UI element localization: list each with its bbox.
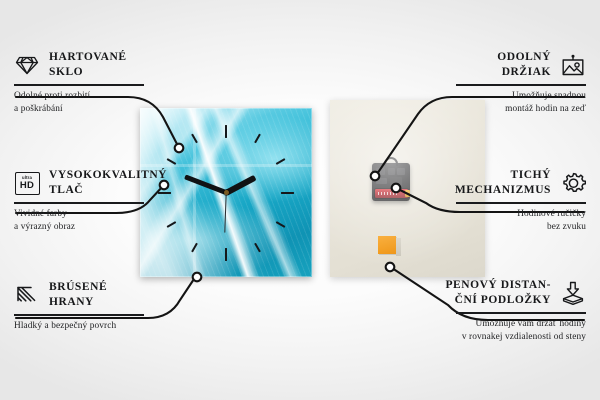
feature-rule — [456, 312, 586, 313]
feature-vysokokvalitny-tlac: ultra HD VYSOKOKVALITNÝTLAČ Vividné farb… — [14, 168, 204, 235]
movement-detail — [376, 178, 387, 184]
feature-subtitle: Umožňuje vám držať hodinyv rovnakej vzdi… — [386, 318, 586, 345]
feature-heading: ODOLNÝDRŽIAK — [396, 50, 586, 80]
feature-title: HARTOVANÉSKLO — [49, 50, 127, 80]
gear-icon — [560, 171, 586, 195]
clock-hour-tick — [225, 125, 227, 138]
feature-brusene-hrany: BRÚSENÉHRANY Hladký a bezpečný povrch — [14, 280, 204, 333]
clock-center-cap — [224, 190, 229, 195]
clock-hour-tick — [225, 248, 227, 261]
foam-spacer-pad — [378, 236, 396, 254]
feature-heading: HARTOVANÉSKLO — [14, 50, 204, 80]
feature-rule — [456, 202, 586, 203]
hanger-hook-icon — [384, 157, 398, 166]
feature-title: TICHÝMECHANIZMUS — [455, 168, 551, 198]
clock-hour-tick — [276, 221, 286, 228]
feature-odolny-drziak: ODOLNÝDRŽIAK Umožňuje snadnoumontáž hodi… — [396, 50, 586, 117]
clock-hour-tick — [167, 158, 177, 165]
feature-subtitle: Umožňuje snadnoumontáž hodin na zeď — [396, 90, 586, 117]
battery-label — [378, 192, 398, 195]
feature-rule — [14, 84, 144, 85]
clock-hour-tick — [281, 192, 294, 194]
infographic-canvas: HARTOVANÉSKLO Odolné proti rozbitía pošk… — [0, 0, 600, 400]
feature-subtitle: Hodinové ručičkybez zvuku — [396, 208, 586, 235]
clock-hour-tick — [254, 242, 261, 252]
clock-second-hand — [224, 192, 227, 232]
feature-rule — [456, 84, 586, 85]
feature-tichy-mechanizmus: TICHÝMECHANIZMUS Hodinové ručičkybez zvu… — [396, 168, 586, 235]
stacked-pads-arrow-icon — [560, 281, 586, 305]
ultra-hd-badge-icon: ultra HD — [14, 171, 40, 195]
feature-heading: TICHÝMECHANIZMUS — [396, 168, 586, 198]
feature-hartovane-sklo: HARTOVANÉSKLO Odolné proti rozbitía pošk… — [14, 50, 204, 117]
feature-rule — [14, 202, 144, 203]
picture-hanger-icon — [560, 53, 586, 77]
feature-title: ODOLNÝDRŽIAK — [497, 50, 551, 80]
clock-hour-hand — [225, 174, 257, 195]
beveled-edges-icon — [14, 283, 40, 307]
clock-hour-tick — [191, 242, 198, 252]
feature-title: PENOVÝ DISTAN-ČNÍ PODLOŽKY — [445, 278, 551, 308]
diamond-icon — [14, 53, 40, 77]
clock-hour-tick — [191, 133, 198, 143]
feature-title: VYSOKOKVALITNÝTLAČ — [49, 168, 167, 198]
movement-detail — [376, 168, 385, 175]
feature-subtitle: Hladký a bezpečný povrch — [14, 320, 204, 333]
feature-heading: PENOVÝ DISTAN-ČNÍ PODLOŽKY — [386, 278, 586, 308]
clock-hour-tick — [276, 158, 286, 165]
clock-hour-tick — [254, 133, 261, 143]
feature-subtitle: Odolné proti rozbitía poškrábání — [14, 90, 204, 117]
feature-heading: ultra HD VYSOKOKVALITNÝTLAČ — [14, 168, 204, 198]
feature-penove-distancni-podlozky: PENOVÝ DISTAN-ČNÍ PODLOŽKY Umožňuje vám … — [386, 278, 586, 345]
feature-heading: BRÚSENÉHRANY — [14, 280, 204, 310]
movement-detail — [388, 168, 395, 175]
feature-subtitle: Vividné farbya výrazný obraz — [14, 208, 204, 235]
hd-label: HD — [20, 181, 34, 191]
feature-title: BRÚSENÉHRANY — [49, 280, 107, 310]
feature-rule — [14, 314, 144, 315]
